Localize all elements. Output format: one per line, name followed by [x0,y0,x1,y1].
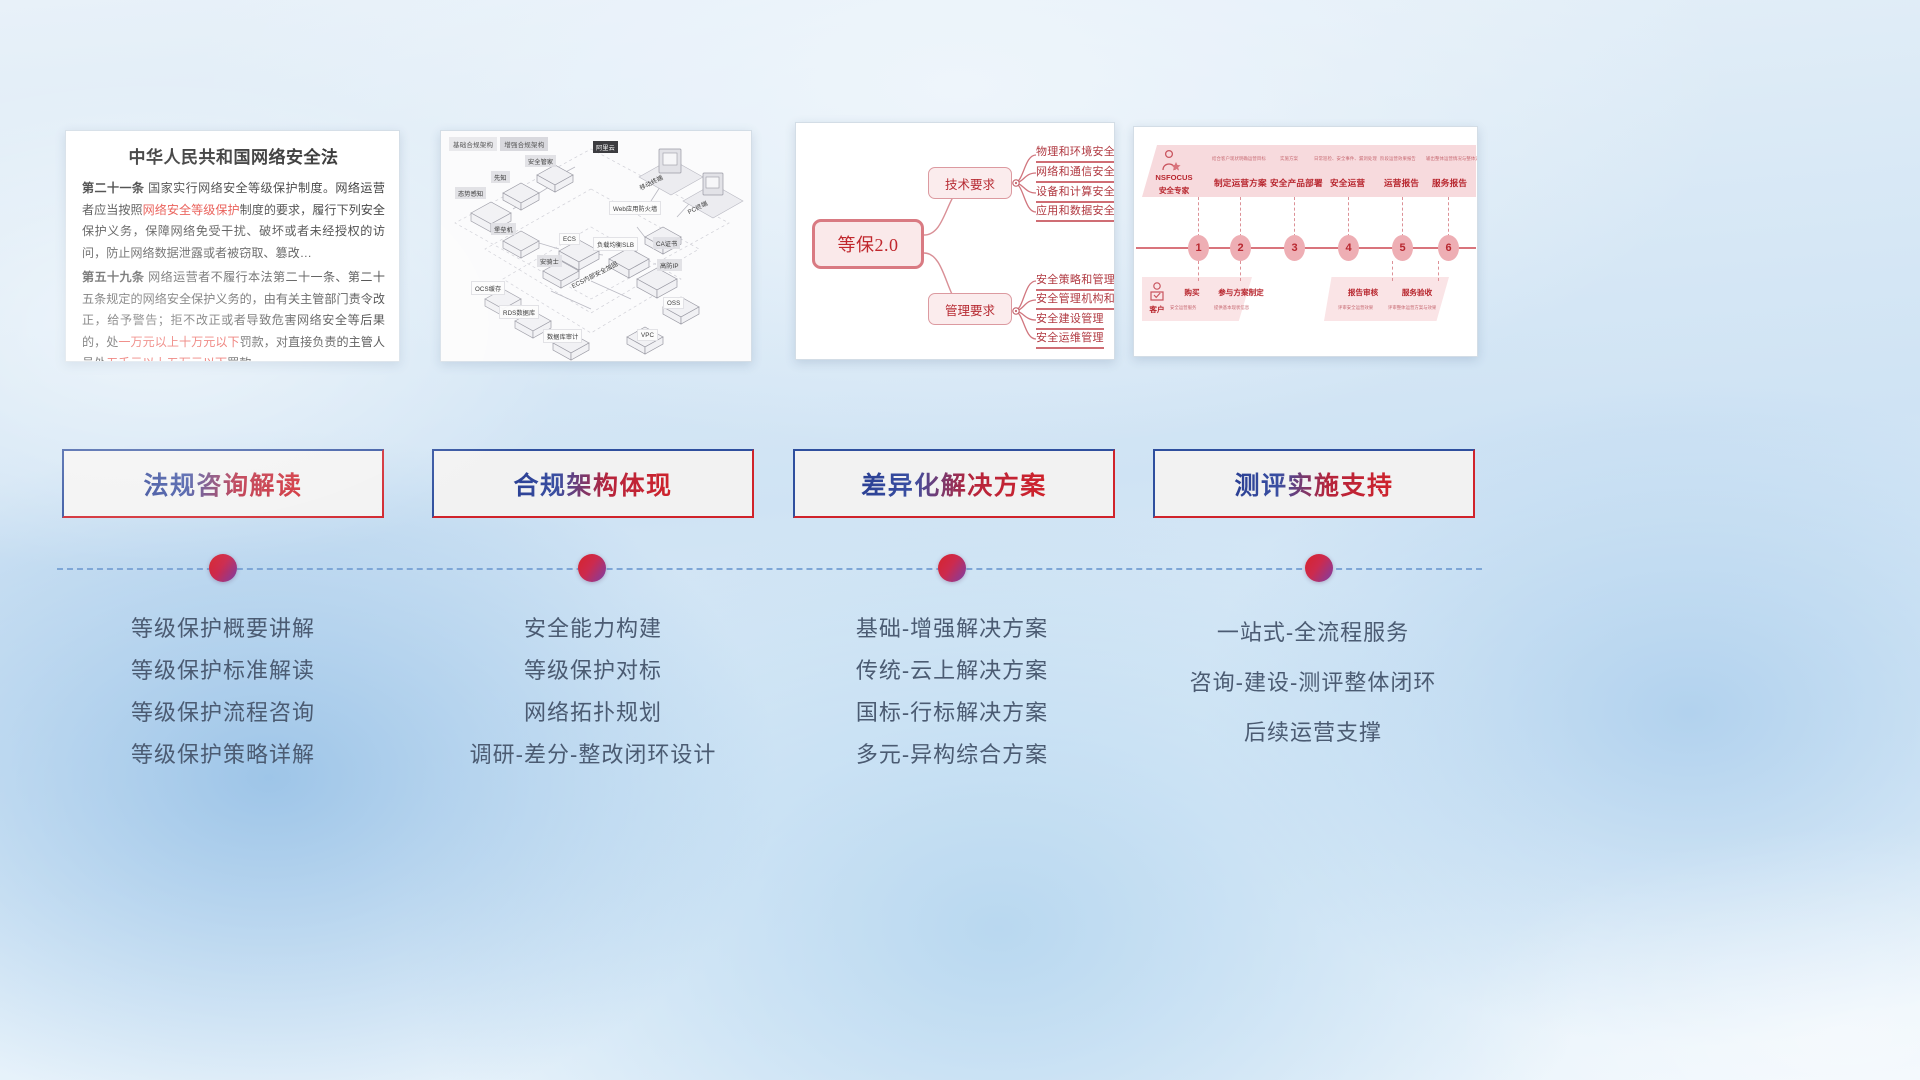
mindmap-branch-technical[interactable]: 技术要求 [928,167,1012,199]
list-item: 国标-行标解决方案 [772,692,1132,734]
timeline-dot-3[interactable] [938,554,966,582]
arch-node-security-butler: 安全管家 [525,155,556,167]
customer-band-right [1324,277,1449,321]
arch-node-oss: OSS [663,297,684,309]
timeline-node-2[interactable]: 2 [1230,235,1251,261]
arch-node-vpc: VPC [637,329,658,341]
customer-role-2-sub: 提供基本现状信息 [1214,305,1249,311]
tab-basic-compliance[interactable]: 基础合规架构 [449,137,497,151]
list-item: 咨询-建设-测评整体闭环 [1133,658,1493,708]
thumbnail-card-mindmap[interactable]: 等保2.0 技术要求 物理和环境安全 网络和通信安全 设备和计算安全 应用和数据… [795,122,1115,360]
list-item: 安全能力构建 [413,608,773,650]
customer-role-4-sub: 评审整体运营方案与效果 [1388,305,1436,311]
thumbnail-card-law[interactable]: 中华人民共和国网络安全法 第二十一条 国家实行网络安全等级保护制度。网络运营者应… [65,130,400,362]
mindmap-leaf-network-comm: 网络和通信安全 [1036,163,1115,183]
timeline-dot-1[interactable] [209,554,237,582]
customer-role-3-main: 报告审核 [1342,287,1384,298]
mindmap-leaf-construction-mgmt: 安全建设管理 [1036,310,1104,330]
law-article-21: 第二十一条 国家实行网络安全等级保护制度。网络运营者应当按照网络安全等级保护制度… [82,178,385,264]
stem-2 [1240,197,1241,237]
mindmap-leaf-org-personnel: 安全管理机构和人员 [1036,290,1115,310]
law-title: 中华人民共和国网络安全法 [82,143,385,168]
arch-node-xianzhi: 先知 [491,171,510,183]
header-box-regulation-consulting[interactable]: 法规咨询解读 [62,449,384,518]
timeline-node-1[interactable]: 1 [1188,235,1209,261]
arch-node-slb: 负载均衡SLB [593,237,638,251]
timeline-node-6[interactable]: 6 [1438,235,1459,261]
architecture-diagram: 基础合规架构 增强合规架构 [441,131,751,361]
feature-list-assessment: 一站式-全流程服务 咨询-建设-测评整体闭环 后续运营支撑 [1133,608,1493,758]
customer-person-icon [1148,281,1166,303]
brand-name: NSFOCUS [1146,173,1202,182]
arch-node-database-audit: 数据库审计 [543,329,582,343]
list-item: 等级保护策略详解 [43,734,403,776]
mindmap-branch-management[interactable]: 管理要求 [928,293,1012,325]
law-article-59: 第五十九条 网络运营者不履行本法第二十一条、第二十五条规定的网络安全保护义务的，… [82,267,385,362]
arch-node-situational-awareness: 态势感知 [455,187,486,199]
feature-list-regulation: 等级保护概要讲解 等级保护标准解读 等级保护流程咨询 等级保护策略详解 [43,608,403,776]
customer-role-2-main: 参与方案制定 [1210,287,1272,298]
feature-list-solution: 基础-增强解决方案 传统-云上解决方案 国标-行标解决方案 多元-异构综合方案 [772,608,1132,776]
step-3-sub: 实施方案 [1280,156,1298,162]
list-item: 一站式-全流程服务 [1133,608,1493,658]
stem-3 [1294,197,1295,237]
list-item: 等级保护概要讲解 [43,608,403,650]
article-21-highlight: 网络安全等级保护 [143,203,240,217]
arch-node-anqishi: 安骑士 [537,255,562,267]
list-item: 传统-云上解决方案 [772,650,1132,692]
stem-6 [1448,197,1449,237]
article-21-label: 第二十一条 [82,181,144,195]
thumbnail-card-architecture[interactable]: 基础合规架构 增强合规架构 [440,130,752,362]
mindmap-leaf-policy-system: 安全策略和管理制度 [1036,271,1115,291]
article-59-text-c: 罚款。 [227,356,263,362]
list-item: 等级保护标准解读 [43,650,403,692]
stem-lower-1 [1198,261,1199,281]
header-box-compliance-architecture[interactable]: 合规架构体现 [432,449,754,518]
list-item: 多元-异构综合方案 [772,734,1132,776]
stem-5 [1402,197,1403,237]
stem-1 [1198,197,1199,237]
feature-list-architecture: 安全能力构建 等级保护对标 网络拓扑规划 调研-差分-整改闭环设计 [413,608,773,776]
header-box-differentiated-solution[interactable]: 差异化解决方案 [793,449,1115,518]
timeline-dot-4[interactable] [1305,554,1333,582]
arch-node-ca-cert: CA证书 [653,237,680,249]
list-item: 后续运营支撑 [1133,708,1493,758]
tab-enhanced-compliance[interactable]: 增强合规架构 [500,137,548,151]
arch-node-ocs-cache: OCS缓存 [471,281,505,295]
list-item: 网络拓扑规划 [413,692,773,734]
article-59-label: 第五十九条 [82,270,144,284]
list-item: 基础-增强解决方案 [772,608,1132,650]
slide-root: 中华人民共和国网络安全法 第二十一条 国家实行网络安全等级保护制度。网络运营者应… [0,0,1920,1080]
mindmap-leaf-app-data: 应用和数据安全 [1036,202,1115,222]
nsfocus-service-timeline: NSFOCUS 安全专家 结合客户现状明确运营目标 制定运营方案 实施方案 安全… [1134,127,1477,356]
arch-node-anti-ddos-ip: 高防IP [657,259,682,271]
header-label-3: 测评实施支持 [1234,466,1393,502]
law-document: 中华人民共和国网络安全法 第二十一条 国家实行网络安全等级保护制度。网络运营者应… [66,131,399,362]
list-item: 调研-差分-整改闭环设计 [413,734,773,776]
architecture-tabs[interactable]: 基础合规架构 增强合规架构 [449,137,548,151]
list-item: 等级保护对标 [413,650,773,692]
mindmap-root-node[interactable]: 等保2.0 [812,219,924,269]
timeline-dot-2[interactable] [578,554,606,582]
step-6-sub: 输出整体运营情况与整体运营效果 [1426,156,1477,162]
mindmap-leaf-ops-mgmt: 安全运维管理 [1036,329,1104,349]
header-label-1: 合规架构体现 [513,466,672,502]
arch-node-bastion-host: 堡垒机 [491,223,516,235]
step-6-main: 服务报告 [1432,177,1467,189]
customer-role-1-main: 购买 [1174,287,1210,298]
customer-role-4-main: 服务验收 [1396,287,1438,298]
arch-node-rds-database: RDS数据库 [499,305,539,319]
step-2-main: 制定运营方案 [1214,177,1267,189]
arch-node-waf: Web应用防火墙 [609,201,661,215]
customer-role-1-sub: 安全运营服务 [1170,305,1196,311]
header-box-assessment-support[interactable]: 测评实施支持 [1153,449,1475,518]
step-3-main: 安全产品部署 [1270,177,1323,189]
timeline-node-5[interactable]: 5 [1392,235,1413,261]
step-4-sub: 日常巡检、安全事件、漏洞处理 [1314,156,1377,162]
step-4-main: 安全运营 [1330,177,1365,189]
stem-lower-6 [1438,261,1439,281]
timeline-axis [1136,247,1476,249]
timeline-node-3[interactable]: 3 [1284,235,1305,261]
article-59-penalty-2: 五千元以上五万元以下 [106,356,227,362]
step-2-sub: 结合客户现状明确运营目标 [1212,156,1266,162]
timeline-node-4[interactable]: 4 [1338,235,1359,261]
customer-label: 客户 [1144,304,1170,315]
step-5-main: 运营报告 [1384,177,1419,189]
header-label-2: 差异化解决方案 [861,466,1047,502]
stem-lower-2 [1240,261,1241,281]
list-item: 等级保护流程咨询 [43,692,403,734]
thumbnail-card-nsfocus-timeline[interactable]: NSFOCUS 安全专家 结合客户现状明确运营目标 制定运营方案 实施方案 安全… [1133,126,1478,357]
arch-node-ecs: ECS [559,233,580,245]
mindmap-leaf-device-compute: 设备和计算安全 [1036,183,1115,203]
customer-role-3-sub: 评审安全运营效果 [1338,305,1373,311]
brand-subtitle: 安全专家 [1146,185,1202,196]
mindmap: 等保2.0 技术要求 物理和环境安全 网络和通信安全 设备和计算安全 应用和数据… [796,123,1114,359]
timeline-dashed-line [57,568,1482,570]
step-5-sub: 阶段运营效果报告 [1380,156,1416,162]
expert-person-icon [1160,149,1182,173]
mindmap-leaf-physical-env: 物理和环境安全 [1036,143,1115,163]
header-label-0: 法规咨询解读 [143,466,302,502]
article-59-penalty-1: 一万元以上十万元以下 [118,335,239,349]
arch-node-aliyun: 阿里云 [593,141,618,153]
stem-4 [1348,197,1349,237]
stem-lower-5 [1392,261,1393,281]
